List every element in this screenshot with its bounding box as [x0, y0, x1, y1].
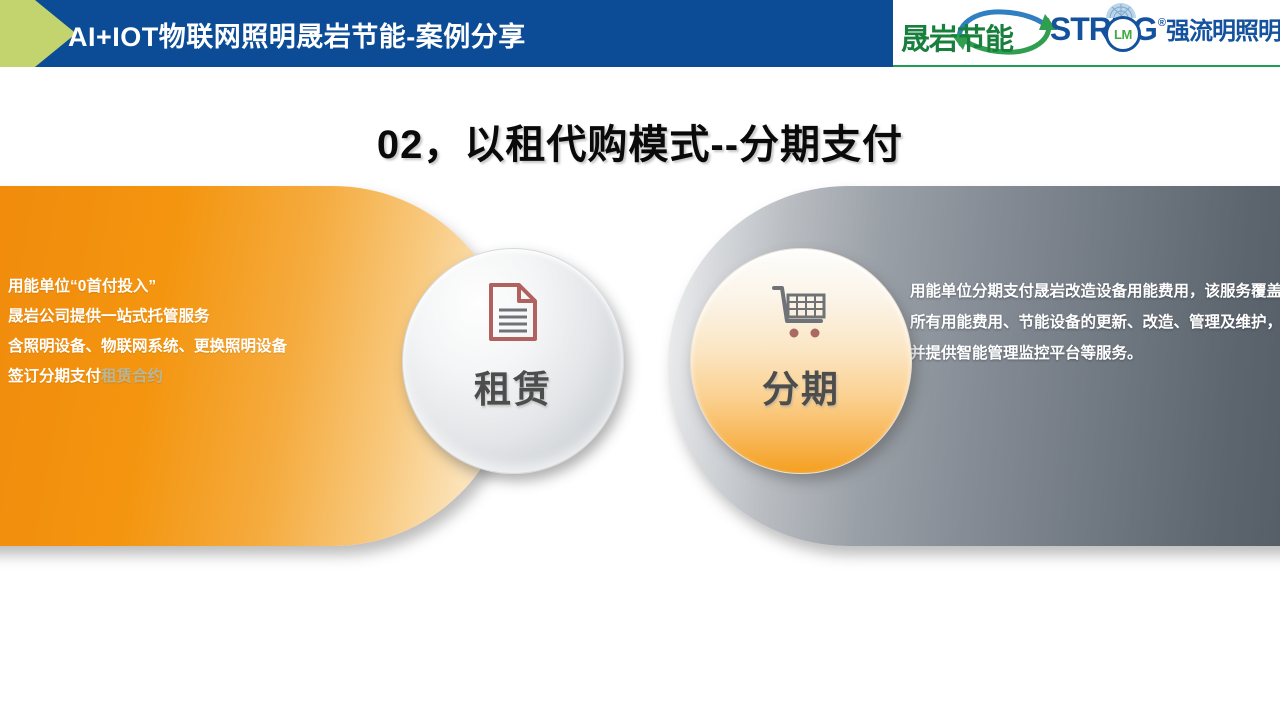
panel-lease-line-3: 含照明设备、物联网系统、更换照明设备 [8, 332, 338, 362]
logo-brand-cn-tail: 强流明照明 [1166, 11, 1280, 46]
logo-brand-cn-text: 晟岩节能 [901, 16, 1077, 58]
panel-installment-text: 用能单位分期支付晟岩改造设备用能费用，该服务覆盖所有用能费用、节能设备的更新、改… [910, 276, 1280, 369]
panel-lease-line-4: 签订分期支付租赁合约 [8, 362, 338, 392]
logo-lm-text: LM [1114, 27, 1132, 42]
circle-installment-label: 分期 [762, 359, 840, 413]
document-icon-svg [487, 282, 539, 342]
circle-installment[interactable]: 分期 [690, 248, 912, 474]
header-bar: AI+IOT物联网照明晟岩节能-案例分享 晟岩节能 STRNG [0, 0, 1280, 67]
shopping-cart-icon-svg [771, 283, 831, 341]
page-title: AI+IOT物联网照明晟岩节能-案例分享 [68, 15, 868, 54]
panel-lease-line-1: 用能单位“0首付投入” [8, 272, 338, 302]
brand-logo: 晟岩节能 STRNG LM ® 强流明照明 [893, 0, 1280, 67]
logo-row: 晟岩节能 STRNG LM ® 强流明照明 [893, 0, 1280, 64]
slide-title: 02，以租代购模式--分期支付 [0, 112, 1280, 170]
panel-lease-line-4-accent: 租赁合约 [101, 368, 163, 385]
panel-lease-line-4-prefix: 签订分期支付 [8, 368, 101, 385]
shopping-cart-icon [771, 281, 831, 343]
content-stage: 用能单位“0首付投入” 晟岩公司提供一站式托管服务 含照明设备、物联网系统、更换… [0, 186, 1280, 566]
logo-brand-cn-wrap: 晟岩节能 [901, 2, 1048, 62]
panel-lease-text: 用能单位“0首付投入” 晟岩公司提供一站式托管服务 含照明设备、物联网系统、更换… [8, 272, 338, 392]
circle-lease-label: 租赁 [474, 359, 552, 413]
panel-lease-line-2: 晟岩公司提供一站式托管服务 [8, 302, 338, 332]
registered-mark: ® [1158, 17, 1166, 29]
logo-lm-circle: LM [1105, 16, 1141, 52]
document-icon [487, 281, 539, 343]
logo-strong-wrap: STRNG LM ® 强流明照明 [1050, 2, 1280, 62]
circle-lease[interactable]: 租赁 [402, 248, 624, 474]
